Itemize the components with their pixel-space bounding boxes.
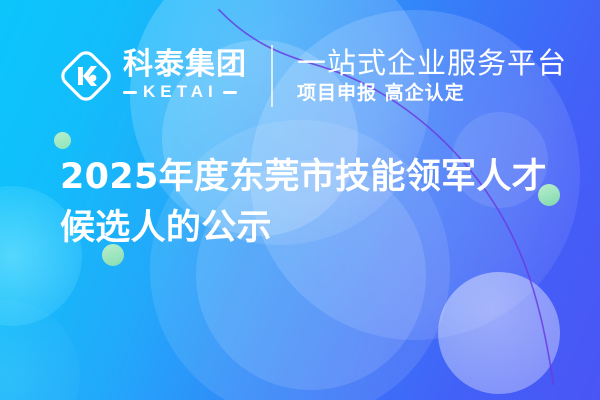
decor-green-dot [54, 132, 71, 149]
logo-dash-right [223, 91, 237, 94]
slogan-secondary: 项目申报 高企认定 [297, 82, 567, 105]
decor-faint-glow-bottom-left [0, 300, 80, 400]
banner-header: 科泰集团 KETAI 一站式企业服务平台 项目申报 高企认定 [0, 38, 600, 114]
decor-bright-circle-bottom-right [438, 272, 560, 394]
logo-company-name-en: KETAI [143, 82, 218, 102]
slogan-block: 一站式企业服务平台 项目申报 高企认定 [297, 47, 567, 105]
company-logo[interactable]: 科泰集团 KETAI [58, 48, 247, 104]
slogan-primary: 一站式企业服务平台 [297, 47, 567, 79]
header-divider [271, 45, 273, 107]
ketai-diamond-k-logo-icon [58, 48, 114, 104]
page-title: 2025年度东莞市技能领军人才候选人的公示 [60, 152, 572, 254]
logo-dash-left [123, 91, 137, 94]
logo-company-name-cn: 科泰集团 [123, 50, 247, 81]
announcement-banner: 科泰集团 KETAI 一站式企业服务平台 项目申报 高企认定 2025年度东莞市… [0, 0, 600, 400]
